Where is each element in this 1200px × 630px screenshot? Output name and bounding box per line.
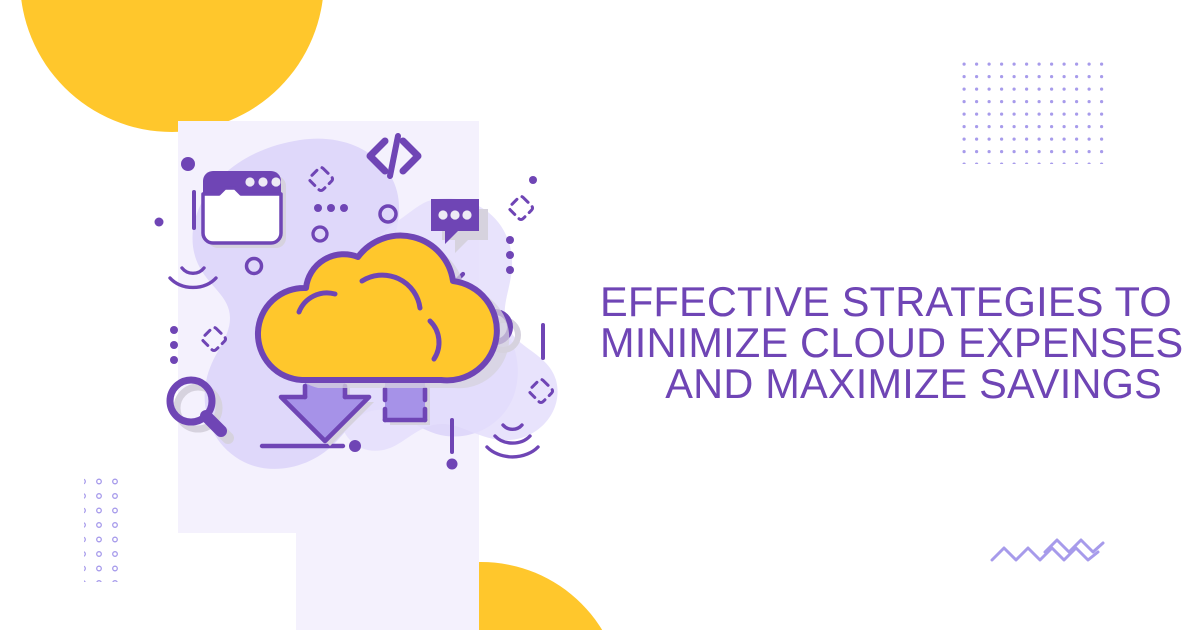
circle-outline-icon-small-left [313,227,327,241]
signal-waves-icon-bottom-right [487,425,538,457]
title-line-2: MINIMIZE CLOUD EXPENSES [600,322,1162,363]
page-title: EFFECTIVE STRATEGIES TO MINIMIZE CLOUD E… [600,281,1162,404]
dot-icon-browser-top [181,157,195,171]
dot-icon-upper-right [529,176,537,184]
magnifier-icon [170,380,228,438]
signal-waves-icon-left [170,268,216,287]
dot-icon-lower-right [447,459,458,470]
cloud-icon [258,236,509,389]
diamond-bracket-icon-right-low [528,378,553,403]
circle-outline-icon-mid [380,206,396,222]
diamond-bracket-icon-upper-left [308,166,333,191]
dot-column-icon-left [170,326,178,364]
dot-icon-rule-end [349,440,361,452]
dot-column-icon-right [506,236,514,274]
title-line-3: AND MAXIMIZE SAVINGS [600,363,1162,404]
dot-icon-left-small [155,218,164,227]
chat-bubble-icon [431,199,488,253]
dot-row-icon-upper [314,204,348,212]
diamond-bracket-icon-right-top [508,195,533,220]
circle-outline-icon-below-browser [247,259,262,274]
diamond-bracket-icon-left-low [201,326,226,351]
poster-canvas: EFFECTIVE STRATEGIES TO MINIMIZE CLOUD E… [0,0,1200,630]
browser-window-icon [203,171,286,248]
code-brackets-icon [370,136,418,176]
title-line-1: EFFECTIVE STRATEGIES TO [600,281,1162,322]
